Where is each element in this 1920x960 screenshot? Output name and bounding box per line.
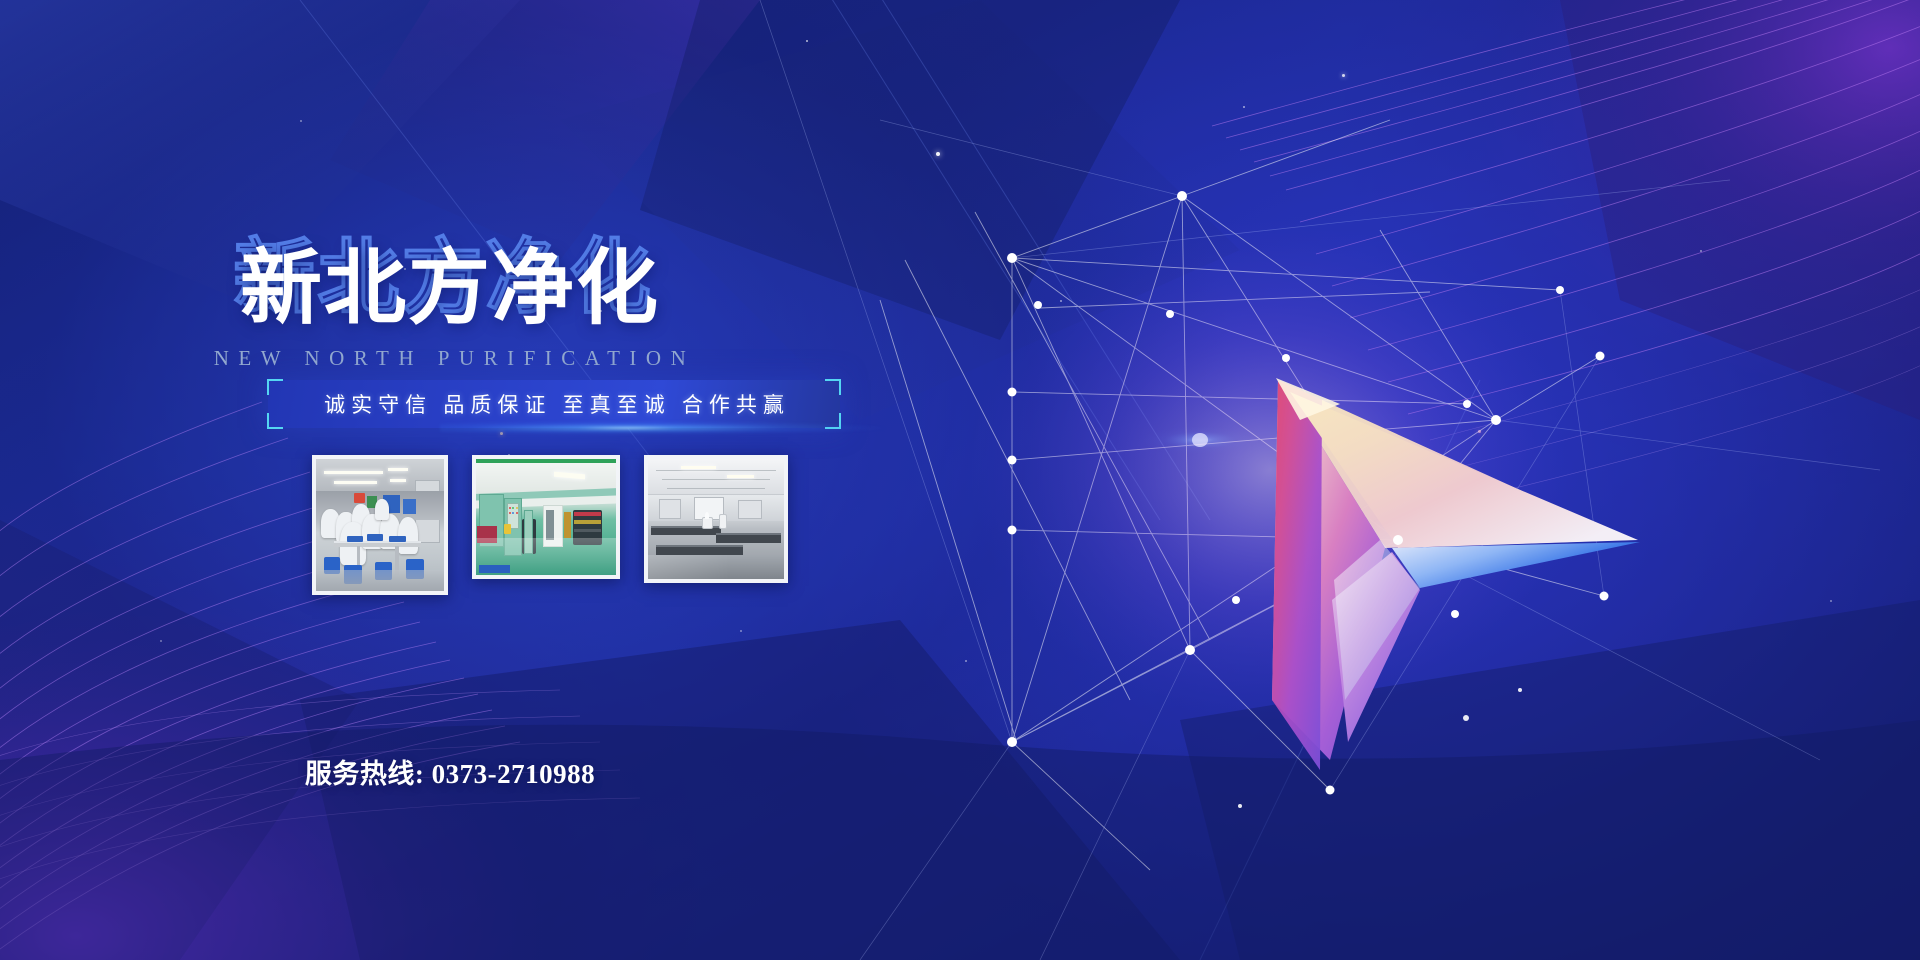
star [1700, 250, 1702, 252]
network-node [1451, 610, 1459, 618]
photo-lamp [388, 468, 408, 471]
photo-gallery [312, 455, 788, 595]
arrow-3d [1272, 378, 1640, 770]
photo-tray [347, 536, 364, 543]
arrow-tip-highlight [1276, 378, 1340, 420]
network-node [1326, 786, 1335, 795]
gallery-photo-printing-workshop[interactable] [472, 455, 620, 579]
promotional-banner: 新北方净化 新北方净化 NEW NORTH PURIFICATION 诚实守信 … [0, 0, 1920, 960]
star [1342, 74, 1345, 77]
arrow-center-crease [1334, 540, 1420, 700]
photo-press-roll [574, 512, 601, 515]
photo-ceiling [648, 459, 784, 495]
photo-floor [316, 570, 444, 591]
network-node [1600, 592, 1609, 601]
star [965, 660, 967, 662]
photo-blue-crate [403, 499, 416, 515]
photo-ceiling-tile-line [662, 479, 771, 480]
photo-lamp [681, 466, 716, 469]
network-node [1556, 286, 1564, 294]
photo-tray [389, 536, 406, 543]
arrow-face-top [1278, 380, 1630, 548]
brand-subtitle-english: NEW NORTH PURIFICATION [0, 346, 900, 371]
network-node [1177, 191, 1187, 201]
network-lines [880, 120, 1604, 870]
photo-lamp [390, 479, 405, 482]
page-title: 新北方净化 [240, 248, 660, 330]
network-node [1393, 535, 1403, 545]
network-node [1596, 352, 1605, 361]
photo-top-green-band [476, 459, 616, 463]
lens-flare-core [1192, 433, 1208, 447]
star [1060, 300, 1062, 302]
arrow-face-upper-wing [1290, 392, 1638, 548]
network-node [1034, 301, 1042, 309]
arrow-backglow [970, 220, 1570, 720]
photo-floor-sheen [648, 555, 784, 579]
photo-yellow-unit [504, 524, 511, 534]
photo-indicator [354, 493, 364, 502]
photo-panel-light [509, 507, 511, 509]
photo-lab-bench [716, 533, 781, 543]
network-node [1007, 737, 1017, 747]
star [1243, 106, 1245, 108]
photo-lamp [727, 475, 754, 478]
network-node [1185, 645, 1195, 655]
star [936, 152, 940, 156]
photo-door-panel [546, 510, 554, 540]
photo-lab-instrument [719, 514, 727, 528]
photo-worker [375, 499, 389, 520]
slogan-text: 诚实守信 品质保证 至真至诚 合作共赢 [318, 389, 790, 419]
slogan-bar: 诚实守信 品质保证 至真至诚 合作共赢 [268, 380, 840, 428]
photo-press-roll [574, 529, 601, 532]
service-hotline: 服务热线: 0373-2710988 [0, 752, 900, 791]
arrow-face-lower-wing [1332, 552, 1420, 742]
arrow-sparkles [1238, 688, 1522, 808]
photo-lab-flask [705, 512, 709, 519]
photo-press-roll [574, 520, 601, 523]
photo-lamp [324, 471, 383, 474]
arrow-face-left-edge [1272, 380, 1322, 770]
network-lines-faint [760, 0, 1880, 960]
photo-ceiling-tile-line [656, 470, 776, 471]
gallery-photo-cleanroom-assembly[interactable] [312, 455, 448, 595]
photo-ceiling-tile-line [667, 488, 765, 489]
title-wrap: 新北方净化 新北方净化 [240, 248, 660, 330]
photo-lamp [334, 481, 378, 484]
photo-wall-cabinet [659, 499, 681, 519]
network-node [1007, 253, 1017, 263]
light-rays-top-right-dense [1430, 270, 1920, 500]
photo-panel-light [516, 507, 518, 509]
corner-bracket-top-left-icon [267, 379, 283, 395]
network-node [1463, 400, 1471, 408]
star [1478, 430, 1481, 433]
brand-title-block: 新北方净化 新北方净化 NEW NORTH PURIFICATION [0, 248, 900, 371]
corner-bracket-bottom-left-icon [267, 413, 283, 429]
content-column: 新北方净化 新北方净化 NEW NORTH PURIFICATION 诚实守信 … [0, 0, 900, 960]
network-node [1008, 526, 1017, 535]
lens-flare [1140, 426, 1260, 454]
corner-bracket-top-right-icon [825, 379, 841, 395]
photo-wall-cabinet [738, 500, 762, 519]
photo-tray [367, 534, 382, 541]
photo-floor-mat [479, 565, 510, 573]
gallery-photo-laboratory[interactable] [644, 455, 788, 583]
light-rays-top-right [1212, 0, 1920, 414]
photo-yellow-post [564, 512, 571, 538]
star [1830, 600, 1832, 602]
slogan-glow-streak [440, 421, 886, 435]
purple-glow-right [1300, 0, 1920, 480]
shard-bottom-right [1180, 600, 1920, 960]
network-node [1008, 456, 1017, 465]
network-node [1232, 596, 1240, 604]
network-node [1008, 388, 1017, 397]
network-nodes [1007, 191, 1609, 795]
network-node [1282, 354, 1290, 362]
arrow-face-blue-wing [1392, 542, 1640, 588]
arrow-face-body [1272, 380, 1385, 760]
network-node [1491, 415, 1501, 425]
network-node [1166, 310, 1174, 318]
shard-right-edge [1560, 0, 1920, 420]
